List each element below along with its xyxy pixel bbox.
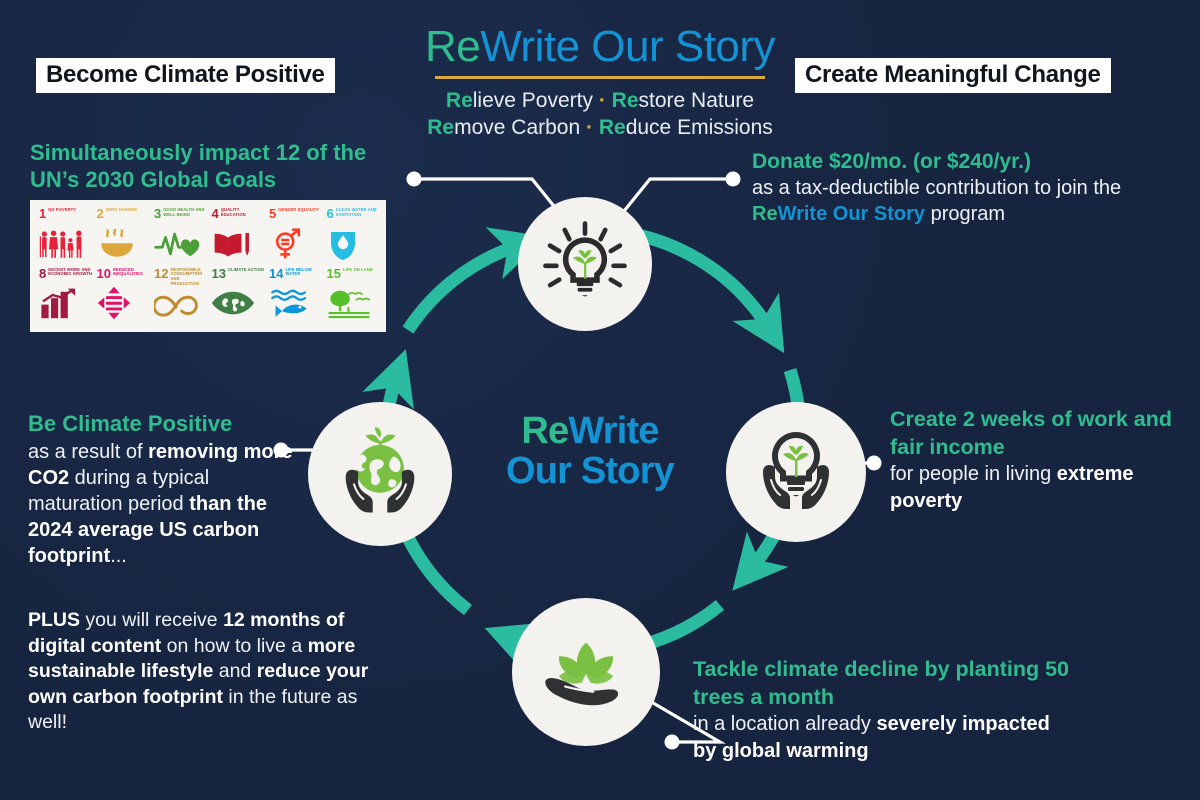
sdg-label: ZERO HUNGER <box>106 207 137 213</box>
sdg-label: LIFE BELOW WATER <box>285 267 322 278</box>
hands-holding-earth-icon <box>328 422 432 526</box>
sdg-label: QUALITY EDUCATION <box>221 207 265 218</box>
sdg-number: 12 <box>154 267 168 280</box>
sdg-goal-14: 14LIFE BELOW WATER <box>266 267 323 326</box>
node-hands-holding-earth[interactable] <box>308 402 452 546</box>
badge-become-climate-positive: Become Climate Positive <box>36 58 335 93</box>
equality-arrows-icon <box>97 280 151 326</box>
title-block: ReWrite Our Story Relieve Poverty · Rest… <box>400 24 800 142</box>
sdg-head: 8DECENT WORK AND ECONOMIC GROWTH <box>39 267 93 280</box>
ring-arc-top-left <box>408 245 520 330</box>
gender-equality-icon <box>269 220 323 266</box>
sdg-label: REDUCED INEQUALITIES <box>113 267 150 278</box>
subtitle-line-1: Relieve Poverty · Restore Nature <box>400 87 800 114</box>
sdg-goal-8: 8DECENT WORK AND ECONOMIC GROWTH <box>36 267 93 326</box>
sdg-label: NO POVERTY <box>48 207 76 213</box>
title-brand-rest: Write Our Story <box>480 22 775 71</box>
callout-work-income: Create 2 weeks of work and fair income f… <box>890 405 1190 514</box>
sdg-head: 12RESPONSIBLE CONSUMPTION AND PRODUCTION <box>154 267 208 287</box>
callout-plant-trees: Tackle climate decline by planting 50 tr… <box>693 655 1073 764</box>
people-family-icon <box>39 220 93 266</box>
callout-donate-lead: Donate $20/mo. (or $240/yr.) <box>752 148 1192 175</box>
sdg-head: 10REDUCED INEQUALITIES <box>97 267 151 280</box>
sdg-goal-3: 3GOOD HEALTH AND WELL-BEING <box>151 207 208 266</box>
connector-dot-top-right <box>726 172 741 187</box>
sdg-head: 3GOOD HEALTH AND WELL-BEING <box>154 207 208 220</box>
callout-climate-lead: Be Climate Positive <box>28 410 308 439</box>
sdg-goal-10: 10REDUCED INEQUALITIES <box>94 267 151 326</box>
sdg-number: 6 <box>327 207 334 220</box>
sdg-goal-4: 4QUALITY EDUCATION <box>209 207 266 266</box>
callout-climate-body: as a result of removing more CO2 during … <box>28 439 308 569</box>
sdg-number: 4 <box>212 207 219 220</box>
sdg-head: 5GENDER EQUALITY <box>269 207 323 220</box>
lightbulb-plant-rays-icon <box>539 218 631 310</box>
hand-holding-leaves-icon <box>534 620 638 724</box>
sdg-number: 15 <box>327 267 341 280</box>
callout-plus-digital-content: PLUS you will receive 12 months of digit… <box>28 608 393 736</box>
sdg-goal-12: 12RESPONSIBLE CONSUMPTION AND PRODUCTION <box>151 267 208 326</box>
infographic-canvas: Become Climate Positive Create Meaningfu… <box>0 0 1200 800</box>
hands-holding-lightbulb-icon <box>746 422 846 522</box>
center-line-2: Our Story <box>470 452 710 492</box>
heartbeat-icon <box>154 220 208 266</box>
callout-climate-positive: Be Climate Positive as a result of remov… <box>28 410 308 569</box>
un-global-goals-grid: 1NO POVERTY 2ZERO HUNGER 3GOOD HEALTH AN… <box>30 200 386 332</box>
node-hand-holding-leaves[interactable] <box>512 598 660 746</box>
globe-eye-icon <box>212 280 266 326</box>
sdg-label: GOOD HEALTH AND WELL-BEING <box>163 207 207 218</box>
sdg-goal-5: 5GENDER EQUALITY <box>266 207 323 266</box>
callout-donate: Donate $20/mo. (or $240/yr.) as a tax-de… <box>752 148 1192 227</box>
steaming-bowl-icon <box>97 220 151 266</box>
sdg-head: 13CLIMATE ACTION <box>212 267 266 280</box>
callout-work-lead: Create 2 weeks of work and fair income <box>890 405 1190 461</box>
sdg-number: 14 <box>269 267 283 280</box>
sdg-label: DECENT WORK AND ECONOMIC GROWTH <box>48 267 92 278</box>
infinity-icon <box>154 287 208 325</box>
sdg-number: 5 <box>269 207 276 220</box>
sdg-goal-1: 1NO POVERTY <box>36 207 93 266</box>
callout-work-body: for people in living extreme poverty <box>890 461 1190 513</box>
sdg-label: RESPONSIBLE CONSUMPTION AND PRODUCTION <box>170 267 207 287</box>
sdg-head: 14LIFE BELOW WATER <box>269 267 323 280</box>
fish-waves-icon <box>269 280 323 326</box>
sdg-number: 13 <box>212 267 226 280</box>
growth-chart-icon <box>39 280 93 326</box>
center-brand-label: ReWrite Our Story <box>470 412 710 492</box>
center-line-1: ReWrite <box>470 412 710 452</box>
sdg-label: GENDER EQUALITY <box>278 207 319 213</box>
title-subtitle: Relieve Poverty · Restore Nature Remove … <box>400 87 800 142</box>
badge-create-meaningful-change: Create Meaningful Change <box>795 58 1111 93</box>
connector-dot-top-left <box>407 172 422 187</box>
callout-donate-body: as a tax-deductible contribution to join… <box>752 175 1192 227</box>
title-divider <box>435 76 765 79</box>
sdg-label: CLIMATE ACTION <box>228 267 264 273</box>
sdg-head: 2ZERO HUNGER <box>97 207 151 220</box>
connector-dot-right <box>867 456 882 471</box>
sdg-number: 2 <box>97 207 104 220</box>
title-brand-prefix: Re <box>425 22 480 71</box>
sdg-number: 1 <box>39 207 46 220</box>
sdg-goal-13: 13CLIMATE ACTION <box>209 267 266 326</box>
connector-dot-bottom <box>665 735 680 750</box>
sdg-goal-2: 2ZERO HUNGER <box>94 207 151 266</box>
callout-trees-body: in a location already severely impacted … <box>693 711 1073 763</box>
node-hands-holding-lightbulb[interactable] <box>726 402 866 542</box>
node-lightbulb-plant-rays[interactable] <box>518 197 652 331</box>
subtitle-line-2: Remove Carbon · Reduce Emissions <box>400 114 800 141</box>
sdg-number: 3 <box>154 207 161 220</box>
goals-heading: Simultaneously impact 12 of the UN’s 203… <box>30 140 400 194</box>
open-book-icon <box>212 220 266 266</box>
sdg-number: 8 <box>39 267 46 280</box>
sdg-head: 4QUALITY EDUCATION <box>212 207 266 220</box>
page-title: ReWrite Our Story <box>400 24 800 70</box>
sdg-head: 1NO POVERTY <box>39 207 93 220</box>
sdg-number: 10 <box>97 267 111 280</box>
callout-trees-lead: Tackle climate decline by planting 50 tr… <box>693 655 1073 711</box>
